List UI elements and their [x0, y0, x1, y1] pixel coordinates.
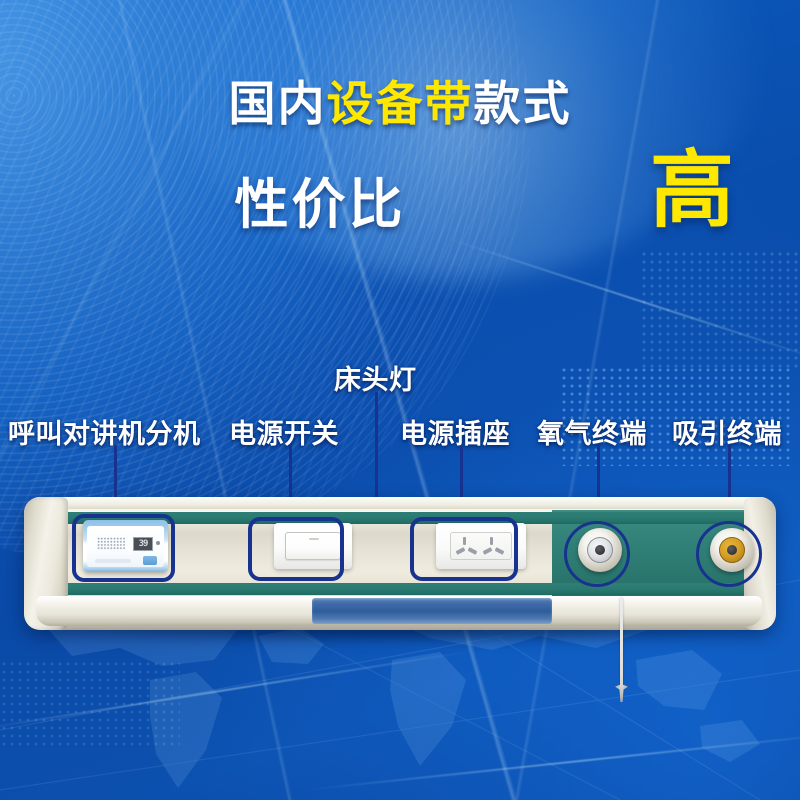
emphasis-character: 高 — [650, 148, 734, 232]
halftone-dots — [640, 250, 800, 370]
callout-label-power-switch: 电源开关 — [229, 412, 339, 451]
callout-label-nurse-call-intercom: 呼叫对讲机分机 — [8, 412, 201, 451]
promo-banner: 国内设备带款式 性价比 高 呼叫对讲机分机 电源开关 床头灯 电源插座 氧气终端… — [0, 0, 800, 800]
callout-label-oxygen-terminal: 氧气终端 — [537, 412, 647, 451]
halftone-dots — [0, 660, 180, 750]
highlight-box-nurse-call-intercom — [72, 514, 175, 582]
highlight-ring-oxygen-terminal — [564, 521, 630, 587]
panel-top-edge — [24, 497, 776, 509]
callout-label-power-socket: 电源插座 — [400, 412, 510, 451]
panel-stripe-bottom — [60, 583, 776, 595]
bedside-lamp-strip[interactable] — [312, 598, 552, 624]
callout-label-suction-terminal: 吸引终端 — [672, 412, 782, 451]
highlight-box-power-switch — [248, 517, 344, 581]
highlight-box-power-socket — [410, 517, 518, 581]
highlight-ring-suction-terminal — [696, 521, 762, 587]
subline-text: 性价比 — [235, 160, 406, 239]
